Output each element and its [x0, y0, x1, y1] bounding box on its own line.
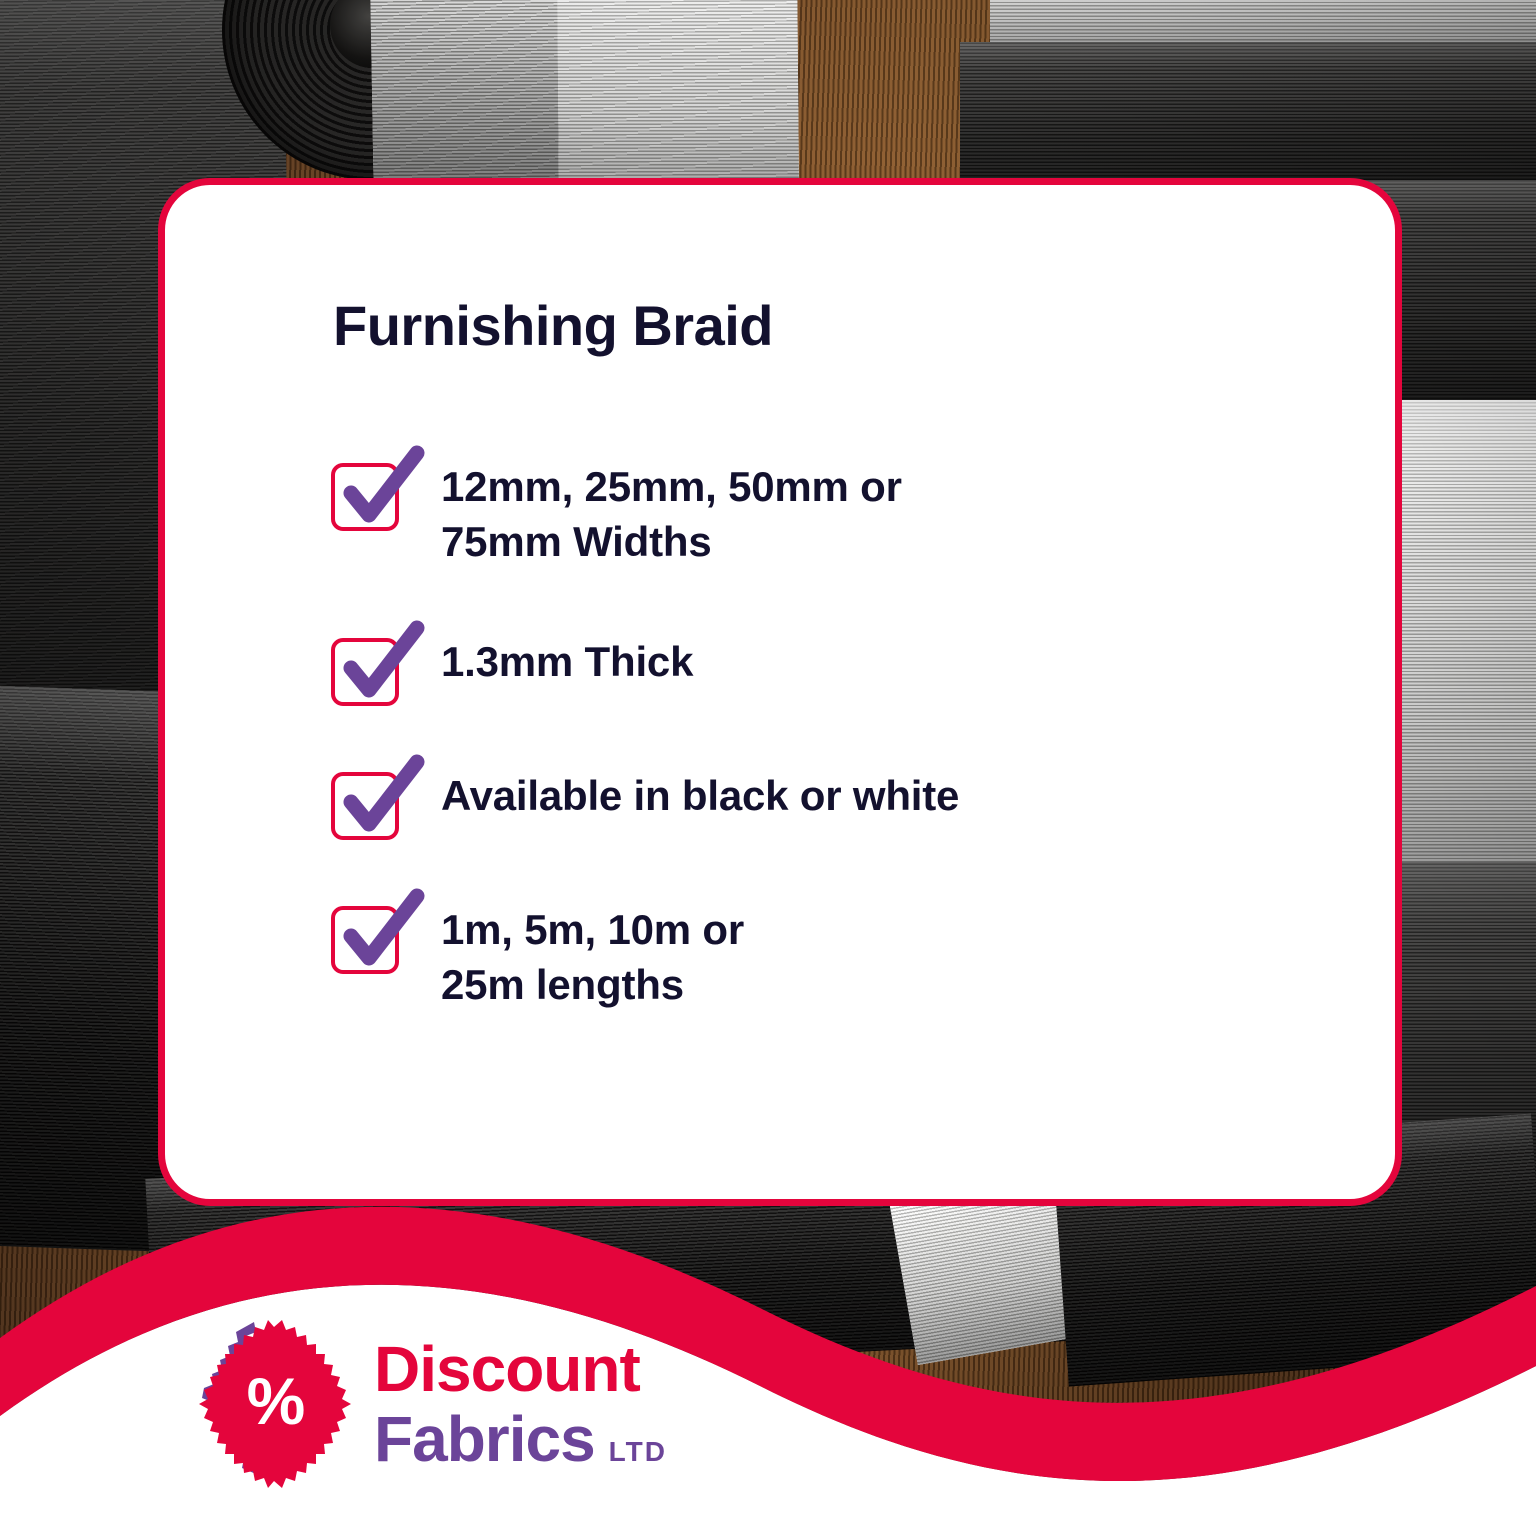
info-card: Furnishing Braid 12mm, 25mm, 50mm or 75m…: [158, 178, 1402, 1206]
feature-item: Available in black or white: [331, 760, 1335, 838]
page-title: Furnishing Braid: [333, 293, 773, 358]
logo-discount-text: Discount: [374, 1337, 667, 1401]
logo-fabrics-text: Fabrics: [374, 1407, 595, 1471]
logo-wordmark: Discount Fabrics LTD: [374, 1337, 667, 1471]
tick-glyph: [337, 624, 425, 710]
checkmark-icon: [331, 630, 405, 704]
logo-ltd-text: LTD: [609, 1438, 667, 1466]
feature-line: 25m lengths: [441, 957, 744, 1012]
feature-line: 1.3mm Thick: [441, 634, 693, 689]
feature-line: 12mm, 25mm, 50mm or: [441, 459, 902, 514]
checkmark-icon: [331, 764, 405, 838]
feature-line: Available in black or white: [441, 768, 959, 823]
checkmark-icon: [331, 898, 405, 972]
feature-label: 1.3mm Thick: [441, 626, 693, 689]
feature-label: 1m, 5m, 10m or 25m lengths: [441, 894, 744, 1013]
percent-symbol: %: [247, 1364, 306, 1438]
tick-glyph: [337, 892, 425, 978]
feature-line: 75mm Widths: [441, 514, 902, 569]
percent-diamond-icon: %: [196, 1316, 356, 1492]
feature-list: 12mm, 25mm, 50mm or 75mm Widths 1.3mm Th…: [331, 451, 1335, 1035]
feature-line: 1m, 5m, 10m or: [441, 902, 744, 957]
feature-item: 12mm, 25mm, 50mm or 75mm Widths: [331, 451, 1335, 570]
tick-glyph: [337, 758, 425, 844]
feature-item: 1.3mm Thick: [331, 626, 1335, 704]
brand-logo[interactable]: % Discount Fabrics LTD: [196, 1316, 667, 1492]
product-graphic: Furnishing Braid 12mm, 25mm, 50mm or 75m…: [0, 0, 1536, 1536]
tick-glyph: [337, 449, 425, 535]
feature-label: Available in black or white: [441, 760, 959, 823]
feature-label: 12mm, 25mm, 50mm or 75mm Widths: [441, 451, 902, 570]
checkmark-icon: [331, 455, 405, 529]
feature-item: 1m, 5m, 10m or 25m lengths: [331, 894, 1335, 1013]
